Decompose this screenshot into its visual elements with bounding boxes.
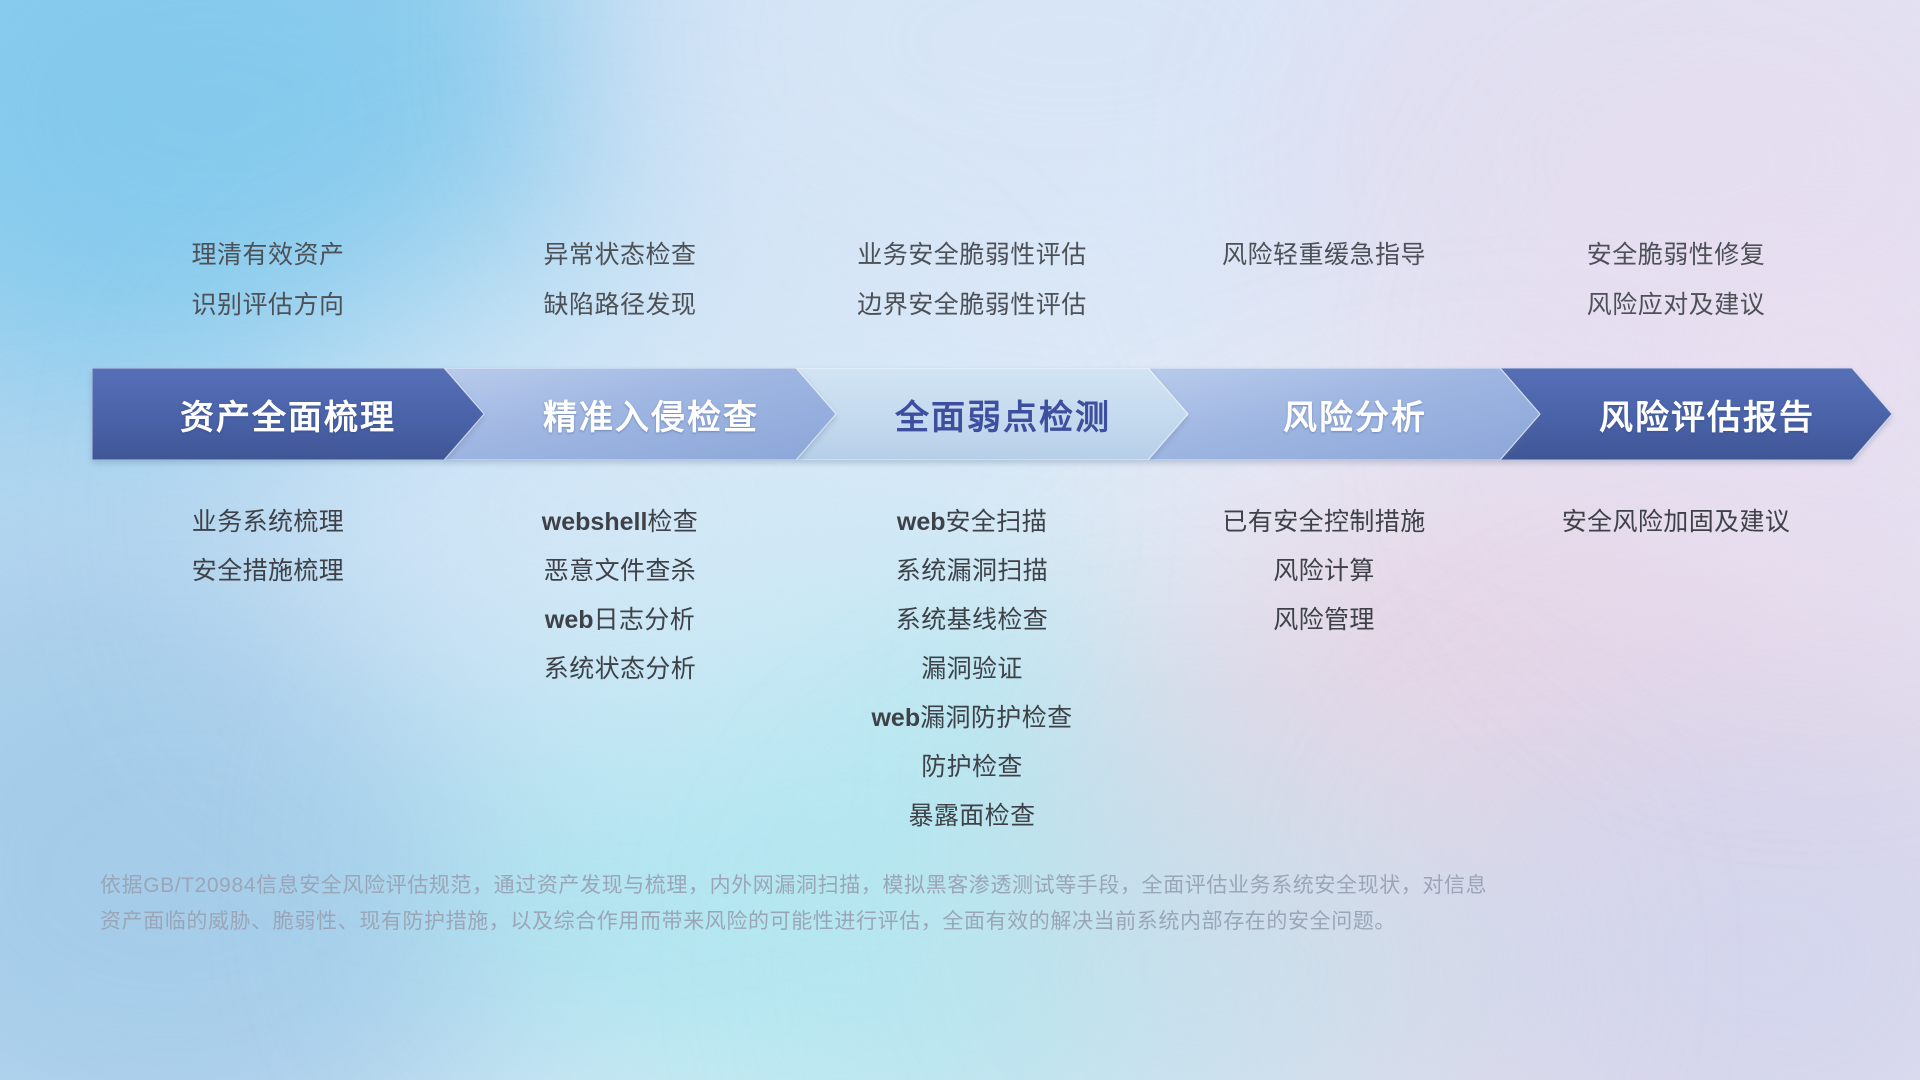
- detail-group-5: 安全风险加固及建议: [1500, 498, 1852, 547]
- top-caption-item: 边界安全脆弱性评估: [857, 280, 1087, 330]
- footer-line-2: 资产面临的威胁、脆弱性、现有防护措施，以及综合作用而带来风险的可能性进行评估，全…: [100, 904, 1660, 940]
- detail-item: 风险管理: [1273, 596, 1375, 645]
- stage-label: 风险评估报告: [1599, 390, 1815, 439]
- stage-chevron-3[interactable]: 全面弱点检测: [796, 368, 1188, 460]
- top-caption-item: 识别评估方向: [191, 280, 344, 330]
- stage-chevron-band: 资产全面梳理精准入侵检查全面弱点检测风险分析风险评估报告: [92, 368, 1852, 460]
- detail-item: 系统状态分析: [544, 645, 696, 694]
- detail-item: 系统漏洞扫描: [896, 547, 1048, 596]
- stage-chevron-5[interactable]: 风险评估报告: [1500, 368, 1892, 460]
- top-caption-item: 异常状态检查: [543, 230, 696, 280]
- bottom-detail-row: 业务系统梳理安全措施梳理webshell检查恶意文件查杀web日志分析系统状态分…: [0, 498, 1920, 841]
- detail-item: 安全风险加固及建议: [1562, 498, 1791, 547]
- detail-item: 恶意文件查杀: [544, 547, 696, 596]
- top-caption-item: 缺陷路径发现: [543, 280, 696, 330]
- stage-chevron-4[interactable]: 风险分析: [1148, 368, 1540, 460]
- footer-line-1: 依据GB/T20984信息安全风险评估规范，通过资产发现与梳理，内外网漏洞扫描，…: [100, 868, 1660, 904]
- top-caption-item: 风险应对及建议: [1587, 280, 1766, 330]
- stage-label: 全面弱点检测: [895, 390, 1111, 439]
- stage-chevron-1[interactable]: 资产全面梳理: [92, 368, 484, 460]
- detail-group-3: web安全扫描系统漏洞扫描系统基线检查漏洞验证web漏洞防护检查防护检查暴露面检…: [796, 498, 1148, 841]
- top-caption-group-1: 理清有效资产识别评估方向: [92, 230, 444, 330]
- top-caption-item: 安全脆弱性修复: [1587, 230, 1766, 280]
- stage-label: 风险分析: [1283, 390, 1427, 439]
- stage-label: 精准入侵检查: [543, 390, 759, 439]
- top-caption-item: 业务安全脆弱性评估: [857, 230, 1087, 280]
- detail-item: 漏洞验证: [921, 645, 1023, 694]
- detail-item: web漏洞防护检查: [871, 694, 1072, 743]
- detail-item: 业务系统梳理: [192, 498, 344, 547]
- top-caption-group-4: 风险轻重缓急指导: [1148, 230, 1500, 330]
- detail-item: 防护检查: [921, 743, 1023, 792]
- top-caption-row: 理清有效资产识别评估方向异常状态检查缺陷路径发现业务安全脆弱性评估边界安全脆弱性…: [0, 230, 1920, 330]
- detail-item: 系统基线检查: [896, 596, 1048, 645]
- detail-group-2: webshell检查恶意文件查杀web日志分析系统状态分析: [444, 498, 796, 694]
- top-caption-group-3: 业务安全脆弱性评估边界安全脆弱性评估: [796, 230, 1148, 330]
- footer-description: 依据GB/T20984信息安全风险评估规范，通过资产发现与梳理，内外网漏洞扫描，…: [100, 868, 1660, 940]
- detail-item: webshell检查: [542, 498, 698, 547]
- top-caption-item: 理清有效资产: [191, 230, 344, 280]
- detail-group-1: 业务系统梳理安全措施梳理: [92, 498, 444, 596]
- stage-label: 资产全面梳理: [180, 390, 396, 439]
- detail-item: 风险计算: [1273, 547, 1375, 596]
- detail-group-4: 已有安全控制措施风险计算风险管理: [1148, 498, 1500, 645]
- detail-item: 安全措施梳理: [192, 547, 344, 596]
- detail-item: 已有安全控制措施: [1222, 498, 1425, 547]
- detail-item: web日志分析: [545, 596, 695, 645]
- detail-item: web安全扫描: [897, 498, 1047, 547]
- detail-item-lead: web: [897, 508, 946, 536]
- detail-item-rest: 安全扫描: [946, 508, 1048, 536]
- detail-item-lead: web: [545, 606, 594, 634]
- detail-item-lead: web: [871, 704, 920, 732]
- top-caption-item: 风险轻重缓急指导: [1222, 230, 1426, 280]
- top-caption-group-2: 异常状态检查缺陷路径发现: [444, 230, 796, 330]
- top-caption-group-5: 安全脆弱性修复风险应对及建议: [1500, 230, 1852, 330]
- detail-item-rest: 日志分析: [594, 606, 696, 634]
- detail-item-lead: webshell: [542, 508, 648, 536]
- detail-item: 暴露面检查: [908, 792, 1035, 841]
- process-diagram: 理清有效资产识别评估方向异常状态检查缺陷路径发现业务安全脆弱性评估边界安全脆弱性…: [0, 0, 1920, 1080]
- stage-chevron-2[interactable]: 精准入侵检查: [444, 368, 836, 460]
- detail-item-rest: 漏洞防护检查: [920, 704, 1072, 732]
- detail-item-rest: 检查: [647, 508, 698, 536]
